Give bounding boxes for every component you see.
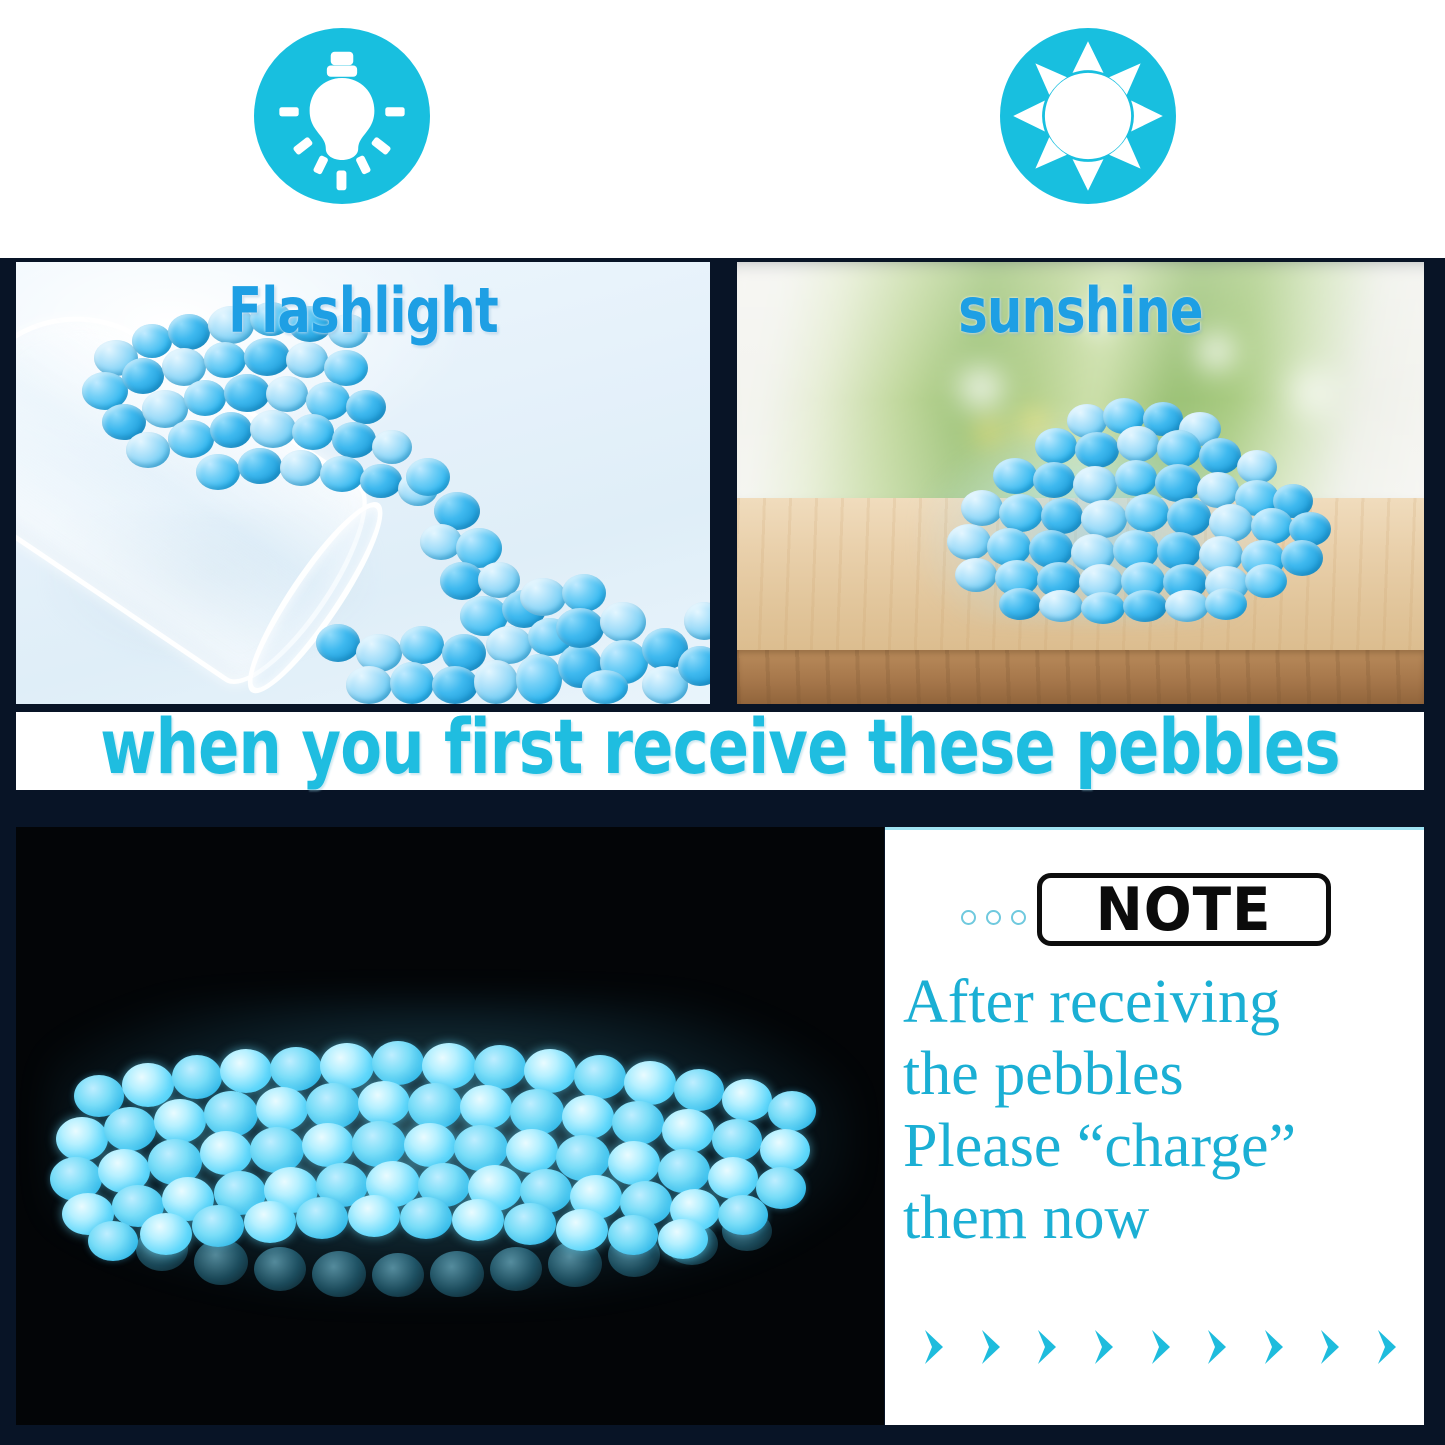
note-card-top-rule <box>885 827 1424 830</box>
chevron-right-icon <box>1261 1327 1288 1367</box>
chevron-right-icon <box>1034 1327 1061 1367</box>
lightbulb-icon <box>254 28 430 204</box>
note-line: After receiving <box>903 967 1413 1039</box>
note-line: Please “charge” <box>903 1111 1413 1183</box>
note-badge-label: NOTE <box>1096 880 1272 940</box>
sunshine-caption: sunshine <box>806 280 1356 342</box>
dot-icon <box>961 910 976 925</box>
chevron-right-icon <box>1374 1327 1401 1367</box>
chevron-right-icon <box>921 1327 948 1367</box>
sunshine-photo-panel: sunshine <box>737 262 1424 704</box>
page-headline: when you first receive these pebbles <box>157 708 1283 786</box>
sun-icon <box>1000 28 1176 204</box>
note-badge: NOTE <box>1037 873 1331 946</box>
bottom-row: NOTE After receiving the pebbles Please … <box>0 824 1445 1429</box>
chevron-right-icon <box>1204 1327 1231 1367</box>
note-line: the pebbles <box>903 1039 1413 1111</box>
flashlight-caption: Flashlight <box>85 280 640 342</box>
chevron-right-icon <box>1317 1327 1344 1367</box>
chevron-right-icon <box>1148 1327 1175 1367</box>
note-dots-decoration <box>961 910 1026 925</box>
top-photo-row: Flashlight <box>0 258 1445 708</box>
headline-band: when you first receive these pebbles <box>16 712 1424 790</box>
chevron-right-icon <box>978 1327 1005 1367</box>
note-arrow-row <box>921 1327 1401 1367</box>
dot-icon <box>986 910 1001 925</box>
flashlight-photo-panel: Flashlight <box>16 262 710 704</box>
note-body-text: After receiving the pebbles Please “char… <box>903 967 1413 1255</box>
top-icon-band <box>0 0 1445 258</box>
note-line: them now <box>903 1183 1413 1255</box>
glow-in-dark-photo-panel <box>16 827 884 1425</box>
infographic-page: Flashlight <box>0 0 1445 1445</box>
wood-table-edge <box>737 650 1424 704</box>
note-card: NOTE After receiving the pebbles Please … <box>885 827 1424 1425</box>
chevron-right-icon <box>1091 1327 1118 1367</box>
dot-icon <box>1011 910 1026 925</box>
